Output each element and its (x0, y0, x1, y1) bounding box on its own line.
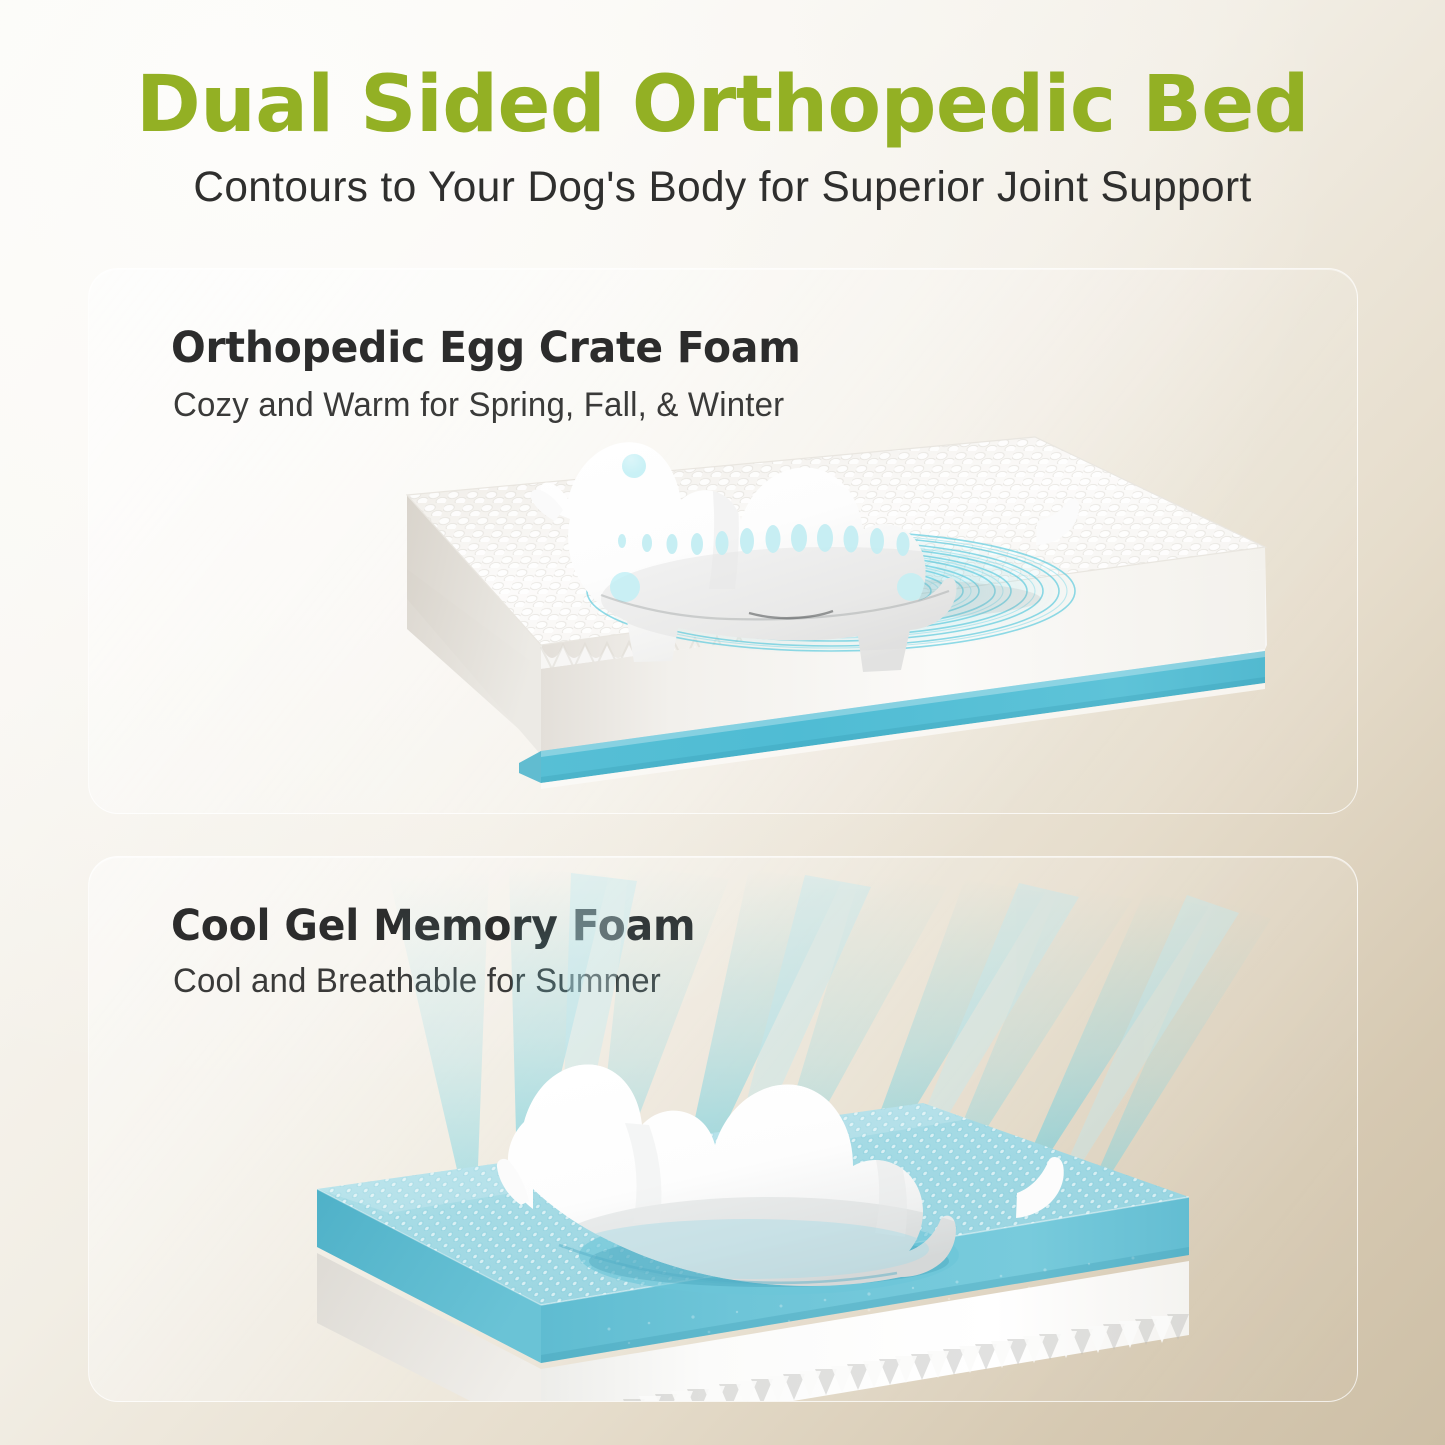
page-title: Dual Sided Orthopedic Bed (0, 62, 1445, 149)
page-subtitle: Contours to Your Dog's Body for Superior… (11, 163, 1434, 212)
card-subtitle-cool-gel: Cool and Breathable for Summer (173, 962, 661, 1001)
feature-card-cool-gel: Cool Gel Memory Foam Cool and Breathable… (88, 856, 1358, 1402)
header: Dual Sided Orthopedic Bed Contours to Yo… (0, 0, 1445, 213)
infographic-page: Dual Sided Orthopedic Bed Contours to Yo… (0, 0, 1445, 1445)
card-subtitle-egg-crate: Cozy and Warm for Spring, Fall, & Winter (173, 386, 784, 425)
card-title-egg-crate: Orthopedic Egg Crate Foam (171, 323, 801, 373)
feature-card-egg-crate: Orthopedic Egg Crate Foam Cozy and Warm … (88, 268, 1358, 814)
card-title-cool-gel: Cool Gel Memory Foam (171, 901, 695, 951)
